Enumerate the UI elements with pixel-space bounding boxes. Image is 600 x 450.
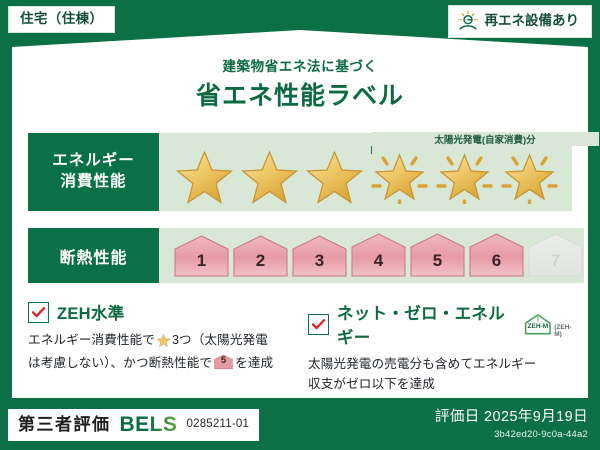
dwelling-type-tag: 住宅（住棟）: [8, 6, 115, 33]
label-subtitle: 建築物省エネ法に基づく: [0, 55, 600, 75]
criterion-text-c: は考慮しない）、かつ断熱性能で: [28, 356, 212, 370]
check-icon: [308, 314, 329, 335]
insulation-performance-key: 断熱性能: [28, 228, 159, 283]
insulation-level-value: 1: [173, 251, 230, 271]
criterion-text-a: 太陽光発電の売電分も含めてエネルギー: [308, 357, 537, 371]
energy-performance-value: 太陽光発電(自家消費)分: [159, 133, 572, 211]
insulation-level-value: 3: [291, 251, 348, 271]
insulation-level-value: 4: [350, 251, 407, 271]
insulation-level-value: 7: [527, 251, 584, 271]
criterion-text-b: 3つ（太陽光発電: [172, 333, 268, 347]
insulation-badge-inline-value: 5: [214, 354, 233, 369]
renewable-equipment-label: 再エネ設備あり: [485, 14, 580, 28]
insulation-level-value: 6: [468, 251, 525, 271]
energy-performance-key: エネルギー 消費性能: [28, 133, 159, 211]
bels-jp-label: 第三者評価: [18, 416, 111, 433]
criterion-zeh-standard: ZEH水準 エネルギー消費性能で3つ（太陽光発電は考慮しない）、かつ断熱性能で5…: [28, 300, 296, 373]
evaluation-info: 評価日 2025年9月19日 3b42ed20-9c0a-44a2: [435, 405, 588, 440]
star-filled-solar: [433, 146, 496, 204]
star-filled-solar: [368, 146, 431, 204]
zeh-m-logo: ZEH-M (ZEH-M): [523, 311, 576, 338]
criterion-title: ZEH水準: [57, 300, 125, 324]
insulation-level-badge-inactive: 7: [527, 233, 584, 278]
criterion-title: ネット・ゼロ・エネルギー: [337, 300, 514, 348]
star-rating: [159, 146, 561, 204]
zeh-m-house-icon: ZEH-M: [523, 311, 553, 338]
insulation-badge-inline-icon: 5: [214, 354, 233, 370]
bels-number: 0285211-01: [187, 419, 250, 431]
insulation-level-badge: 3: [291, 233, 348, 278]
svg-text:ZEH-M: ZEH-M: [527, 322, 548, 329]
criterion-header: ネット・ゼロ・エネルギー ZEH-M (ZEH-M): [308, 300, 576, 348]
energy-performance-row: エネルギー 消費性能 太陽光発電(自家消費)分: [28, 133, 572, 211]
insulation-level-value: 5: [409, 251, 466, 271]
criterion-text-b: 収支がゼロ以下を達成: [308, 377, 435, 391]
energy-key-line1: エネルギー: [52, 152, 135, 169]
evaluation-id: 3b42ed20-9c0a-44a2: [435, 429, 588, 440]
bels-logo-text: BELS: [120, 414, 178, 435]
insulation-performance-value: 1 2 3 4: [159, 228, 584, 283]
renewable-equipment-tag: 再エネ設備あり: [448, 5, 593, 38]
insulation-level-badge: 5: [409, 233, 466, 278]
criterion-body: 太陽光発電の売電分も含めてエネルギー収支がゼロ以下を達成: [308, 355, 576, 394]
insulation-level-badge: 2: [232, 233, 289, 278]
star-filled: [238, 146, 301, 204]
check-icon: [28, 302, 49, 323]
insulation-level-badge: 6: [468, 233, 525, 278]
zeh-m-logo-note: (ZEH-M): [554, 324, 576, 338]
evaluation-date: 評価日 2025年9月19日: [435, 405, 588, 426]
star-filled: [173, 146, 236, 204]
insulation-level-badge: 4: [350, 233, 407, 278]
sun-solar-icon: [457, 10, 479, 32]
page-title: 省エネ性能ラベル: [0, 76, 600, 112]
criterion-header: ZEH水準: [28, 300, 296, 324]
star-filled: [303, 146, 366, 204]
star-filled-solar: [498, 146, 561, 204]
star-inline-icon: [156, 333, 171, 354]
energy-key-line2: 消費性能: [60, 173, 126, 190]
criterion-text-d: を達成: [235, 356, 273, 370]
bels-third-party-badge: 第三者評価 BELS 0285211-01: [8, 409, 259, 441]
insulation-level-badge: 1: [173, 233, 230, 278]
criterion-net-zero-energy: ネット・ゼロ・エネルギー ZEH-M (ZEH-M) 太陽光発電の売電分も含めて…: [308, 300, 576, 394]
solar-bracket-label: 太陽光発電(自家消費)分: [371, 132, 599, 146]
insulation-level-scale: 1 2 3 4: [159, 233, 584, 278]
energy-label-card: 住宅（住棟） 再エネ設備あり 建築物省エネ法に基づく 省エネ性能ラベル エネルギ…: [0, 0, 600, 450]
insulation-performance-row: 断熱性能 1: [28, 228, 572, 283]
insulation-level-value: 2: [232, 251, 289, 271]
criterion-text-a: エネルギー消費性能で: [28, 333, 155, 347]
criterion-body: エネルギー消費性能で3つ（太陽光発電は考慮しない）、かつ断熱性能で5を達成: [28, 331, 296, 373]
